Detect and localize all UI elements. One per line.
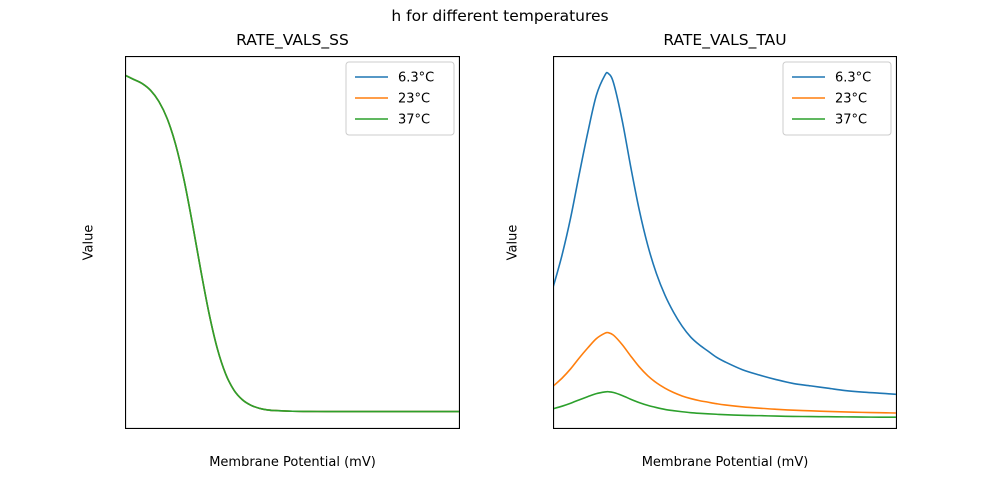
- legend: 6.3°C23°C37°C: [783, 62, 891, 135]
- figure-suptitle: h for different temperatures: [0, 6, 1000, 26]
- axes-rate-vals-ss: RATE_VALS_SS −100−500501000.00.20.40.60.…: [125, 56, 460, 429]
- plot-area-ss: −100−500501000.00.20.40.60.81.06.3°C23°C…: [125, 56, 460, 429]
- xlabel-ss: Membrane Potential (mV): [125, 454, 460, 471]
- axes-title-ss: RATE_VALS_SS: [125, 30, 460, 50]
- legend-label-3: 37°C: [398, 113, 430, 128]
- ylabel-ss: Value: [81, 183, 98, 303]
- legend: 6.3°C23°C37°C: [346, 62, 454, 135]
- legend-label-3: 37°C: [835, 113, 867, 128]
- legend-label-1: 6.3°C: [398, 71, 434, 86]
- legend-label-2: 23°C: [398, 92, 430, 107]
- xlabel-tau: Membrane Potential (mV): [553, 454, 897, 471]
- axes-rate-vals-tau: RATE_VALS_TAU −100−50050100051015206.3°C…: [553, 56, 897, 429]
- matplotlib-figure: h for different temperatures RATE_VALS_S…: [0, 0, 1000, 500]
- plot-area-tau: −100−50050100051015206.3°C23°C37°C: [553, 56, 897, 429]
- legend-label-1: 6.3°C: [835, 71, 871, 86]
- legend-label-2: 23°C: [835, 92, 867, 107]
- axes-title-tau: RATE_VALS_TAU: [553, 30, 897, 50]
- ylabel-tau: Value: [505, 183, 522, 303]
